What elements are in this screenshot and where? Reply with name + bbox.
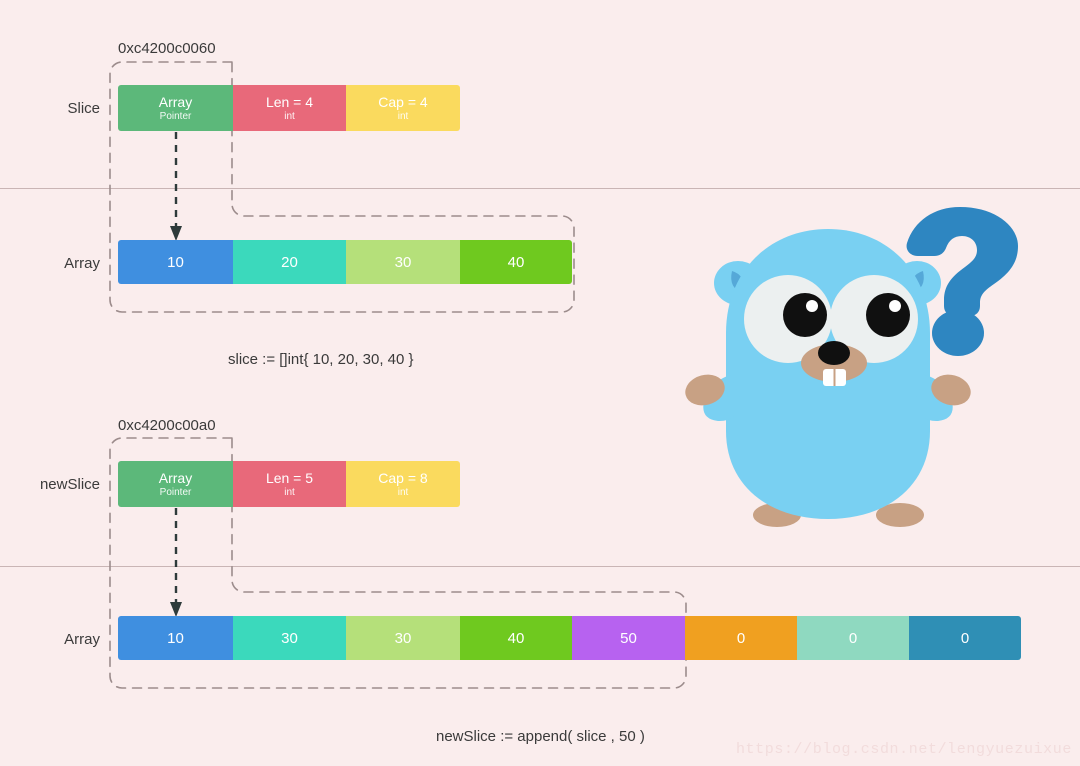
array-cell: 30 — [346, 616, 460, 660]
array-cell: 0 — [909, 616, 1021, 660]
array-cell: 50 — [572, 616, 685, 660]
cap-line2: int — [398, 110, 409, 123]
gopher-eye-glint-right — [889, 300, 901, 312]
newslice-header-len: Len = 5 int — [233, 461, 346, 507]
caption-newslice: newSlice := append( slice , 50 ) — [436, 728, 645, 745]
len-line2: int — [284, 110, 295, 123]
slice-address-label: 0xc4200c0060 — [118, 40, 216, 57]
array-cell: 0 — [685, 616, 797, 660]
cap-line2: int — [398, 486, 409, 499]
gopher-pupil-left — [783, 293, 827, 337]
newslice-address-label: 0xc4200c00a0 — [118, 417, 216, 434]
gopher-eye-glint-left — [806, 300, 818, 312]
slice-header-array-pointer: Array Pointer — [118, 85, 233, 131]
watermark-url: https://blog.csdn.net/lengyuezuixue — [736, 741, 1072, 758]
array-pointer-line1: Array — [159, 470, 192, 486]
newslice-header-array-pointer: Array Pointer — [118, 461, 233, 507]
go-gopher-icon — [660, 185, 1060, 545]
slice-header-cap: Cap = 4 int — [346, 85, 460, 131]
array-cell: 40 — [460, 240, 572, 284]
row-label-array-top: Array — [0, 255, 100, 272]
cap-line1: Cap = 8 — [378, 470, 427, 486]
len-line1: Len = 4 — [266, 94, 313, 110]
array-cell: 10 — [118, 240, 233, 284]
array-pointer-line2: Pointer — [160, 486, 192, 499]
slice-header-len: Len = 4 int — [233, 85, 346, 131]
question-mark-dot — [932, 310, 984, 356]
row-label-slice: Slice — [0, 100, 100, 117]
len-line2: int — [284, 486, 295, 499]
array-cell: 10 — [118, 616, 233, 660]
array-cell: 20 — [233, 240, 346, 284]
row-label-newslice: newSlice — [0, 476, 100, 493]
newslice-header-cap: Cap = 8 int — [346, 461, 460, 507]
gopher-nose — [818, 341, 850, 365]
pointer-arrow-head-bottom — [170, 602, 182, 617]
array-cell: 30 — [346, 240, 460, 284]
array-cell: 40 — [460, 616, 572, 660]
section-divider-bottom — [0, 566, 1080, 567]
array-cell: 30 — [233, 616, 346, 660]
array-cell: 0 — [797, 616, 909, 660]
array-pointer-line2: Pointer — [160, 110, 192, 123]
caption-slice: slice := []int{ 10, 20, 30, 40 } — [228, 351, 414, 368]
array-pointer-line1: Array — [159, 94, 192, 110]
row-label-array-bottom: Array — [0, 631, 100, 648]
pointer-arrow-head-top — [170, 226, 182, 241]
gopher-pupil-right — [866, 293, 910, 337]
cap-line1: Cap = 4 — [378, 94, 427, 110]
diagram-canvas: 0xc4200c0060 Slice Array Pointer Len = 4… — [0, 0, 1080, 766]
len-line1: Len = 5 — [266, 470, 313, 486]
